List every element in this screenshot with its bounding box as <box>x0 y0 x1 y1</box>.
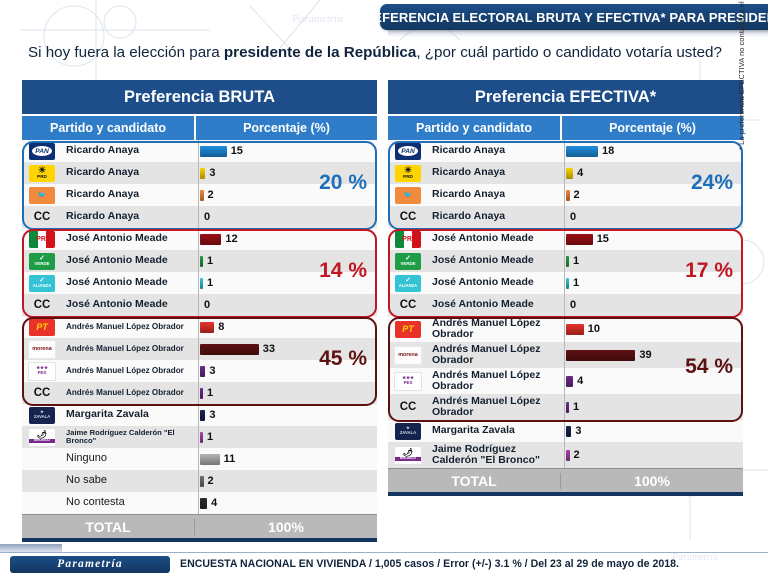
row-value: 4 <box>577 375 583 387</box>
cc-label: CC <box>400 299 417 311</box>
row-bar <box>200 432 203 443</box>
row-party-logo: ✓ALIANZA <box>388 272 428 294</box>
row-candidate-name: José Antonio Meade <box>62 250 198 272</box>
row-bar <box>566 426 571 437</box>
row-bar <box>566 146 598 157</box>
row-bar-cell: 15 <box>564 228 743 250</box>
group-percentage: 17 % <box>685 259 733 283</box>
row-party-logo: 🐦 <box>22 184 62 206</box>
row-bar <box>200 234 221 245</box>
row-party-logo: CC <box>22 294 62 316</box>
row-value: 3 <box>575 425 581 437</box>
group-percentage: 45 % <box>319 347 367 371</box>
row-candidate-name: Ricardo Anaya <box>62 206 198 228</box>
question-emphasis: presidente de la República <box>224 44 416 61</box>
table-row: PTAndrés Manuel López Obrador8 <box>22 316 377 338</box>
row-candidate-name: Andrés Manuel López Obrador <box>428 316 564 342</box>
row-value: 0 <box>204 211 210 223</box>
pri-logo-icon: PRI <box>395 231 421 248</box>
panel-column-headers: Partido y candidatoPorcentaje (%) <box>388 116 743 140</box>
table-row: CCJosé Antonio Meade0 <box>388 294 743 316</box>
row-bar <box>566 168 573 179</box>
table-row: CCJosé Antonio Meade0 <box>22 294 377 316</box>
row-party-logo: PAN <box>388 140 428 162</box>
row-party-logo: morena <box>22 338 62 360</box>
row-value: 3 <box>209 167 215 179</box>
page-title: PREFERENCIA ELECTORAL BRUTA Y EFECTIVA* … <box>355 10 768 25</box>
row-bar <box>200 410 205 421</box>
row-party-logo: ✓VERDE <box>388 250 428 272</box>
row-party-logo: CC <box>22 206 62 228</box>
footer: Parametría ENCUESTA NACIONAL EN VIVIENDA… <box>0 552 768 576</box>
row-bar <box>566 190 570 201</box>
row-candidate-name: José Antonio Meade <box>428 250 564 272</box>
total-value: 100% <box>561 473 743 489</box>
nueva-alianza-logo-icon: ✓ALIANZA <box>395 275 421 292</box>
row-candidate-name: No sabe <box>62 470 198 492</box>
table-row: 🌶BRONCOJaime Rodríguez Calderón "El Bron… <box>22 426 377 448</box>
bronco-logo-icon: 🌶BRONCO <box>394 446 422 465</box>
row-bar <box>200 146 227 157</box>
panel-preferencia-bruta: Preferencia BRUTAPartido y candidatoPorc… <box>22 80 377 542</box>
row-bar <box>200 388 203 399</box>
row-party-logo: ☀PRD <box>22 162 62 184</box>
row-bar-cell: 0 <box>564 206 743 228</box>
footer-tab <box>0 544 62 552</box>
row-party-logo: CC <box>388 394 428 420</box>
total-underline <box>388 492 743 496</box>
row-candidate-name: José Antonio Meade <box>428 228 564 250</box>
movimiento-ciudadano-logo-icon: 🐦 <box>395 187 421 204</box>
row-value: 10 <box>588 323 600 335</box>
prd-logo-icon: ☀PRD <box>395 165 421 182</box>
group-percentage: 24% <box>691 171 733 195</box>
row-party-logo: CC <box>388 206 428 228</box>
row-bar <box>200 366 205 377</box>
cc-label: CC <box>34 211 51 223</box>
pvem-logo-icon: ✓VERDE <box>395 253 421 270</box>
row-bar-cell: 4 <box>198 492 377 514</box>
row-bar-cell: 1 <box>198 382 377 404</box>
page-title-band: PREFERENCIA ELECTORAL BRUTA Y EFECTIVA* … <box>380 4 768 30</box>
column-header-percentage: Porcentaje (%) <box>562 116 743 140</box>
table-row: ★ZAVALAMargarita Zavala3 <box>22 404 377 426</box>
cc-label: CC <box>400 211 417 223</box>
row-party-logo <box>22 470 62 492</box>
row-candidate-name: Ricardo Anaya <box>428 206 564 228</box>
table-row: 🌶BRONCOJaime Rodríguez Calderón "El Bron… <box>388 442 743 468</box>
group-percentage: 14 % <box>319 259 367 283</box>
row-value: 3 <box>209 365 215 377</box>
pri-logo-icon: PRI <box>29 231 55 248</box>
pt-logo-icon: PT <box>29 319 55 336</box>
column-header-party-candidate: Partido y candidato <box>388 116 562 140</box>
pvem-logo-icon: ✓VERDE <box>29 253 55 270</box>
parametria-logo: Parametría <box>10 556 170 573</box>
row-bar <box>200 256 203 267</box>
table-row: CCRicardo Anaya0 <box>22 206 377 228</box>
table-row: PTAndrés Manuel López Obrador10 <box>388 316 743 342</box>
row-candidate-name: Andrés Manuel López Obrador <box>428 342 564 368</box>
row-value: 12 <box>225 233 237 245</box>
cc-label: CC <box>34 387 51 399</box>
row-bar <box>566 234 593 245</box>
row-candidate-name: Ricardo Anaya <box>428 184 564 206</box>
row-candidate-name: Ricardo Anaya <box>62 162 198 184</box>
row-party-logo: ✓ALIANZA <box>22 272 62 294</box>
row-bar <box>566 450 570 461</box>
row-value: 2 <box>574 449 580 461</box>
row-candidate-name: Jaime Rodríguez Calderón "El Bronco" <box>428 442 564 468</box>
zavala-logo-icon: ★ZAVALA <box>29 407 55 424</box>
efectiva-footnote: * La preferencia EFECTIVA no contabiliza… <box>737 0 746 150</box>
column-header-percentage: Porcentaje (%) <box>196 116 377 140</box>
row-bar <box>200 278 203 289</box>
panel-rows: PANRicardo Anaya15☀PRDRicardo Anaya3🐦Ric… <box>22 140 377 514</box>
row-bar <box>566 256 569 267</box>
row-bar-cell: 2 <box>198 470 377 492</box>
question-part-1: Si hoy fuera la elección para <box>28 44 224 61</box>
row-bar-cell: 8 <box>198 316 377 338</box>
table-row: PRIJosé Antonio Meade12 <box>22 228 377 250</box>
poll-question: Si hoy fuera la elección para presidente… <box>28 44 748 61</box>
row-value: 0 <box>570 299 576 311</box>
row-value: 0 <box>204 299 210 311</box>
row-bar <box>566 376 573 387</box>
row-value: 1 <box>207 255 213 267</box>
row-bar-cell: 15 <box>198 140 377 162</box>
table-row: Ninguno11 <box>22 448 377 470</box>
row-bar <box>566 278 569 289</box>
row-candidate-name: Ricardo Anaya <box>62 140 198 162</box>
row-bar <box>566 402 569 413</box>
row-bar <box>200 498 207 509</box>
row-party-logo: CC <box>388 294 428 316</box>
row-candidate-name: Ricardo Anaya <box>428 162 564 184</box>
row-candidate-name: Andrés Manuel López Obrador <box>62 338 198 360</box>
row-candidate-name: Andrés Manuel López Obrador <box>428 394 564 420</box>
row-party-logo: ✓VERDE <box>22 250 62 272</box>
row-party-logo: ★★★PES <box>388 368 428 394</box>
table-row: CCAndrés Manuel López Obrador1 <box>388 394 743 420</box>
row-party-logo: CC <box>22 382 62 404</box>
morena-logo-icon: morena <box>394 346 422 365</box>
row-bar <box>200 454 220 465</box>
svg-text:Parametría: Parametría <box>291 13 343 25</box>
row-candidate-name: Ricardo Anaya <box>428 140 564 162</box>
row-value: 4 <box>577 167 583 179</box>
row-bar <box>200 322 214 333</box>
row-candidate-name: Andrés Manuel López Obrador <box>62 316 198 338</box>
panel-title: Preferencia BRUTA <box>22 80 377 116</box>
panel-rows: PANRicardo Anaya18☀PRDRicardo Anaya4🐦Ric… <box>388 140 743 468</box>
row-candidate-name: Andrés Manuel López Obrador <box>62 360 198 382</box>
total-row: TOTAL100% <box>388 468 743 492</box>
row-value: 11 <box>224 453 236 465</box>
row-bar-cell: 18 <box>564 140 743 162</box>
row-value: 1 <box>573 255 579 267</box>
row-bar-cell: 0 <box>564 294 743 316</box>
group-percentage: 20 % <box>319 171 367 195</box>
row-party-logo: PT <box>22 316 62 338</box>
row-bar <box>566 324 584 335</box>
column-header-party-candidate: Partido y candidato <box>22 116 196 140</box>
row-bar-cell: 11 <box>198 448 377 470</box>
table-row: No contesta4 <box>22 492 377 514</box>
cc-label: CC <box>34 299 51 311</box>
pan-logo-icon: PAN <box>29 143 55 160</box>
row-value: 1 <box>573 277 579 289</box>
footer-methodology-text: ENCUESTA NACIONAL EN VIVIENDA / 1,005 ca… <box>180 558 679 570</box>
row-candidate-name: Ninguno <box>62 448 198 470</box>
row-bar-cell: 3 <box>564 420 743 442</box>
pes-logo-icon: ★★★PES <box>394 372 422 391</box>
row-bar <box>200 190 204 201</box>
row-candidate-name: José Antonio Meade <box>62 272 198 294</box>
row-bar <box>200 168 205 179</box>
row-party-logo: PAN <box>22 140 62 162</box>
table-row: CCAndrés Manuel López Obrador1 <box>22 382 377 404</box>
row-bar-cell: 1 <box>564 394 743 420</box>
prd-logo-icon: ☀PRD <box>29 165 55 182</box>
row-party-logo: ☀PRD <box>388 162 428 184</box>
table-row: CCRicardo Anaya0 <box>388 206 743 228</box>
row-bar-cell: 2 <box>564 442 743 468</box>
row-value: 2 <box>208 189 214 201</box>
row-bar <box>200 476 204 487</box>
row-value: 2 <box>574 189 580 201</box>
row-value: 2 <box>208 475 214 487</box>
row-candidate-name: Andrés Manuel López Obrador <box>428 368 564 394</box>
row-value: 1 <box>207 277 213 289</box>
total-value: 100% <box>195 519 377 535</box>
table-row: ☀PRDRicardo Anaya4 <box>388 162 743 184</box>
total-underline <box>22 538 377 542</box>
panel-column-headers: Partido y candidatoPorcentaje (%) <box>22 116 377 140</box>
row-value: 18 <box>602 145 614 157</box>
row-value: 3 <box>209 409 215 421</box>
row-bar-cell: 12 <box>198 228 377 250</box>
table-row: ★ZAVALAMargarita Zavala3 <box>388 420 743 442</box>
row-party-logo: 🌶BRONCO <box>388 442 428 468</box>
row-value: 33 <box>263 343 275 355</box>
row-party-logo: ★★★PES <box>22 360 62 382</box>
panel-preferencia-efectiva: Preferencia EFECTIVA*Partido y candidato… <box>388 80 743 496</box>
movimiento-ciudadano-logo-icon: 🐦 <box>29 187 55 204</box>
row-candidate-name: Margarita Zavala <box>428 420 564 442</box>
row-party-logo: morena <box>388 342 428 368</box>
row-candidate-name: Andrés Manuel López Obrador <box>62 382 198 404</box>
row-bar <box>200 344 259 355</box>
zavala-logo-icon: ★ZAVALA <box>395 423 421 440</box>
question-part-2: , ¿por cuál partido o candidato votaría … <box>416 44 722 61</box>
cc-label: CC <box>400 401 417 413</box>
row-bar-cell: 0 <box>198 294 377 316</box>
title-band-shadow <box>388 30 768 37</box>
panel-title: Preferencia EFECTIVA* <box>388 80 743 116</box>
row-value: 1 <box>207 431 213 443</box>
row-candidate-name: José Antonio Meade <box>428 294 564 316</box>
total-row: TOTAL100% <box>22 514 377 538</box>
table-row: PANRicardo Anaya15 <box>22 140 377 162</box>
table-row: No sabe2 <box>22 470 377 492</box>
pes-logo-icon: ★★★PES <box>28 362 56 381</box>
table-row: PANRicardo Anaya18 <box>388 140 743 162</box>
row-candidate-name: Margarita Zavala <box>62 404 198 426</box>
row-value: 15 <box>231 145 243 157</box>
table-row: PRIJosé Antonio Meade15 <box>388 228 743 250</box>
pt-logo-icon: PT <box>395 321 421 338</box>
row-bar <box>566 350 635 361</box>
table-row: 🐦Ricardo Anaya2 <box>388 184 743 206</box>
row-bar-cell: 1 <box>198 426 377 448</box>
row-party-logo: PRI <box>22 228 62 250</box>
row-value: 1 <box>573 401 579 413</box>
row-value: 0 <box>570 211 576 223</box>
total-label: TOTAL <box>22 519 195 535</box>
row-party-logo: 🌶BRONCO <box>22 426 62 448</box>
total-label: TOTAL <box>388 473 561 489</box>
row-party-logo: PRI <box>388 228 428 250</box>
group-percentage: 54 % <box>685 355 733 379</box>
row-bar-cell: 0 <box>198 206 377 228</box>
row-party-logo: 🐦 <box>388 184 428 206</box>
row-party-logo <box>22 448 62 470</box>
row-candidate-name: Jaime Rodríguez Calderón "El Bronco" <box>62 426 198 448</box>
row-value: 1 <box>207 387 213 399</box>
row-value: 8 <box>218 321 224 333</box>
bronco-logo-icon: 🌶BRONCO <box>28 428 56 447</box>
row-bar-cell: 10 <box>564 316 743 342</box>
row-party-logo: ★ZAVALA <box>388 420 428 442</box>
row-value: 15 <box>597 233 609 245</box>
row-party-logo: PT <box>388 316 428 342</box>
row-candidate-name: José Antonio Meade <box>428 272 564 294</box>
nueva-alianza-logo-icon: ✓ALIANZA <box>29 275 55 292</box>
pan-logo-icon: PAN <box>395 143 421 160</box>
row-party-logo: ★ZAVALA <box>22 404 62 426</box>
row-candidate-name: José Antonio Meade <box>62 228 198 250</box>
row-candidate-name: José Antonio Meade <box>62 294 198 316</box>
row-party-logo <box>22 492 62 514</box>
row-value: 4 <box>211 497 217 509</box>
row-bar-cell: 3 <box>198 404 377 426</box>
row-value: 39 <box>639 349 651 361</box>
row-candidate-name: Ricardo Anaya <box>62 184 198 206</box>
morena-logo-icon: morena <box>28 340 56 359</box>
row-candidate-name: No contesta <box>62 492 198 514</box>
